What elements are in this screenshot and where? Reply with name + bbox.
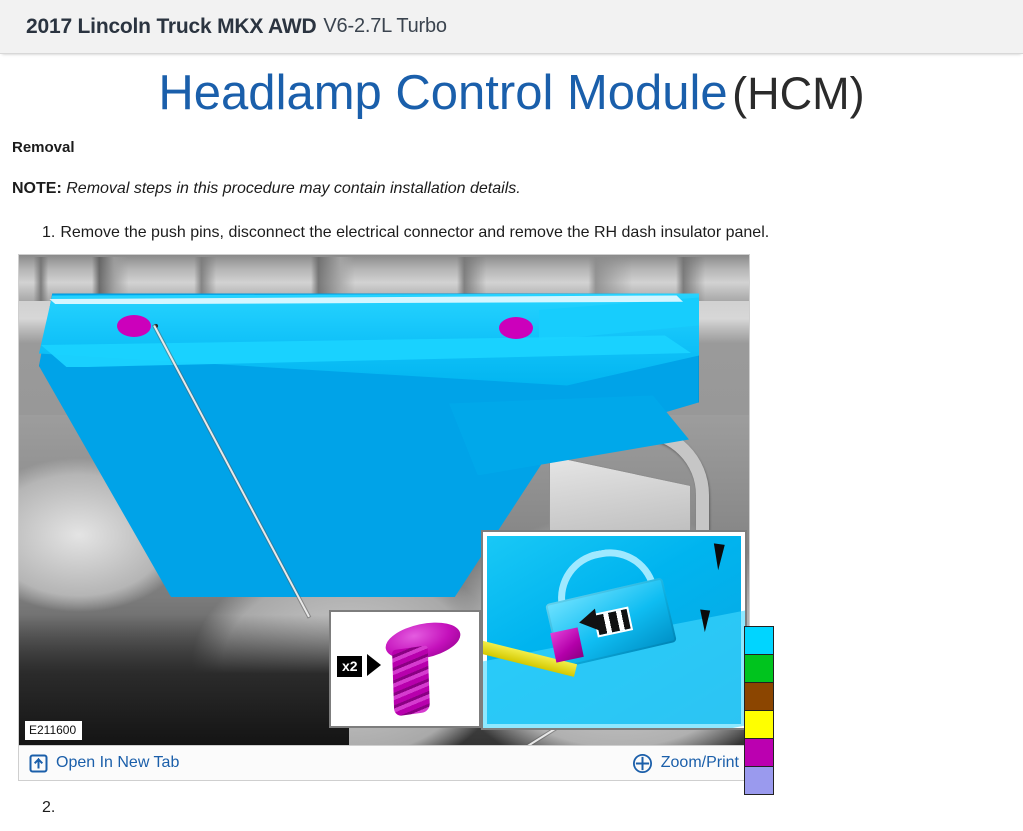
open-in-new-tab-label: Open In New Tab [56, 754, 179, 772]
plus-circle-icon [632, 753, 653, 774]
legend-swatch-periwinkle [745, 767, 773, 794]
legend-swatch-yellow [745, 711, 773, 739]
vehicle-header-bar: 2017 Lincoln Truck MKX AWD V6-2.7L Turbo [0, 0, 1023, 54]
push-pin-arrow-icon [367, 654, 381, 676]
figure-image-code: E211600 [25, 721, 82, 740]
legend-swatch-cyan [745, 627, 773, 655]
zoom-print-label: Zoom/Print [661, 754, 739, 772]
step-number-1: 1. [42, 224, 55, 241]
push-pin-quantity-label: x2 [337, 656, 362, 677]
procedure-content: Removal NOTE: Removal steps in this proc… [0, 139, 1023, 817]
figure-image[interactable]: x2 E211600 [18, 254, 750, 745]
inset-push-pin: x2 [329, 610, 481, 728]
step-item-2: 2. [42, 799, 1013, 817]
vehicle-engine-label: V6-2.7L Turbo [323, 15, 446, 38]
note-block: NOTE: Removal steps in this procedure ma… [12, 180, 1013, 198]
note-label: NOTE: [12, 180, 62, 197]
figure-toolbar: Open In New Tab Zoom/Print [18, 745, 748, 781]
step-number-2: 2. [42, 799, 55, 816]
vehicle-model-label: 2017 Lincoln Truck MKX AWD [26, 15, 316, 39]
section-heading-removal: Removal [12, 139, 1013, 156]
page-title: Headlamp Control Module (HCM) [0, 68, 1023, 119]
connector-direction-arrow-icon [577, 609, 599, 634]
legend-swatch-green [745, 655, 773, 683]
push-pin-shank [392, 646, 430, 717]
zoom-print-button[interactable]: Zoom/Print [632, 753, 739, 774]
step-item-1: 1.Remove the push pins, disconnect the e… [42, 224, 1013, 242]
color-legend [744, 626, 774, 795]
connector-lock-tab [550, 628, 584, 663]
inset-electrical-connector [481, 530, 747, 730]
note-text: Removal steps in this procedure may cont… [66, 180, 520, 197]
page-title-main: Headlamp Control Module [158, 66, 727, 120]
open-in-new-tab-button[interactable]: Open In New Tab [29, 754, 179, 773]
page-title-abbrev: (HCM) [732, 68, 864, 119]
figure-container: x2 E211600 [18, 254, 748, 781]
legend-swatch-brown [745, 683, 773, 711]
open-in-new-tab-icon [29, 754, 48, 773]
step-text-1: Remove the push pins, disconnect the ele… [60, 224, 769, 241]
legend-swatch-magenta [745, 739, 773, 767]
